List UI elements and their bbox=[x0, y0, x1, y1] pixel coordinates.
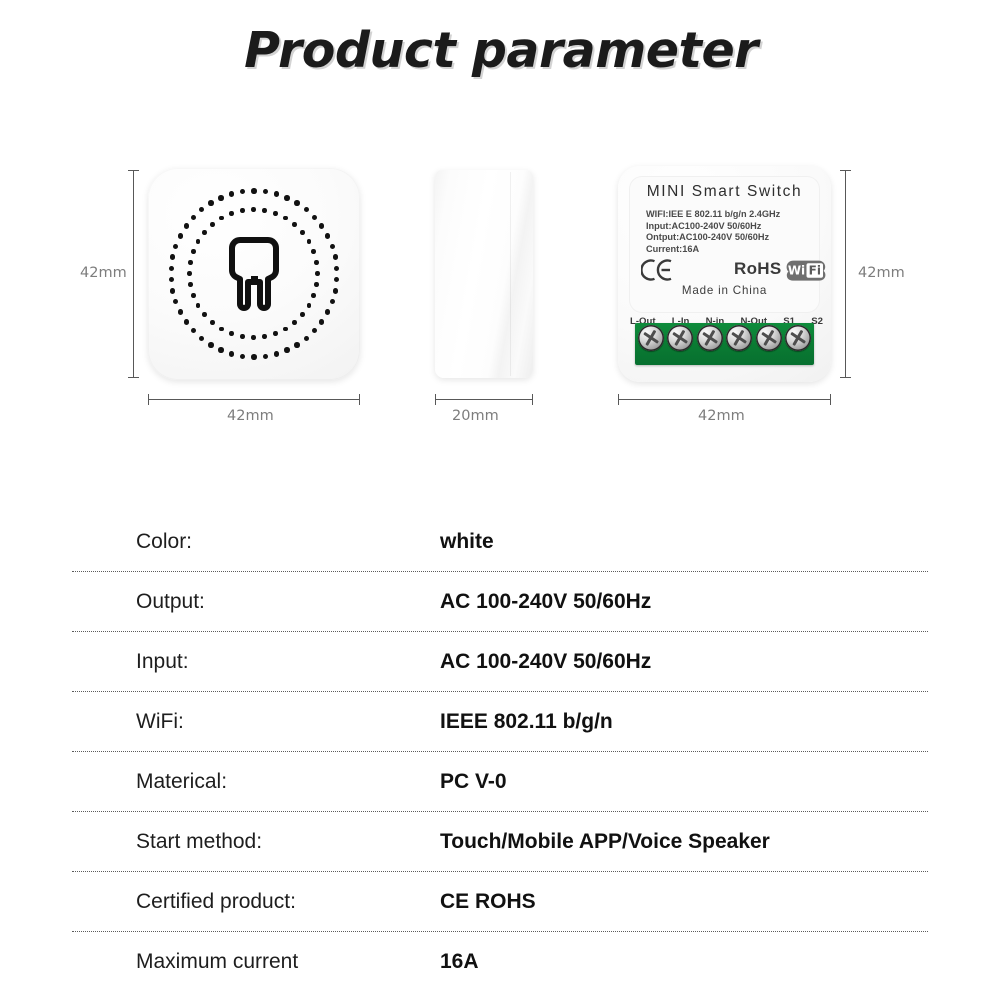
ring-dot bbox=[325, 233, 330, 238]
ring-dot bbox=[184, 319, 189, 324]
terminal-screw bbox=[638, 325, 664, 351]
spec-value: CE ROHS bbox=[440, 890, 928, 914]
spec-label: Certified product: bbox=[72, 890, 440, 914]
ring-dot bbox=[208, 200, 213, 205]
ring-dot bbox=[210, 222, 215, 227]
spec-label: Materical: bbox=[72, 770, 440, 794]
ring-dot bbox=[311, 249, 316, 254]
ring-dot bbox=[187, 271, 192, 276]
ring-dot bbox=[191, 328, 196, 333]
ring-dot bbox=[219, 216, 224, 221]
ring-dot bbox=[240, 189, 245, 194]
device-name-text: MINI Smart Switch bbox=[629, 183, 820, 201]
device-spec-line-wifi: WIFI:IEE E 802.11 b/g/n 2.4GHz bbox=[646, 209, 780, 221]
ring-dot bbox=[274, 351, 279, 356]
product-back-view: MINI Smart Switch WIFI:IEE E 802.11 b/g/… bbox=[618, 166, 831, 382]
ring-dot bbox=[304, 336, 309, 341]
front-height-dimension-text: 42mm bbox=[80, 265, 127, 281]
ring-dot bbox=[312, 215, 317, 220]
product-side-view bbox=[435, 170, 533, 378]
device-spec-line-current: Current:16A bbox=[646, 244, 780, 256]
device-spec-lines: WIFI:IEE E 802.11 b/g/n 2.4GHz Input:AC1… bbox=[646, 209, 780, 255]
ring-dot bbox=[294, 342, 299, 347]
spec-label: WiFi: bbox=[72, 710, 440, 734]
ring-dot bbox=[333, 254, 338, 259]
ring-dot bbox=[240, 208, 245, 213]
ring-dot bbox=[229, 331, 234, 336]
ring-dot bbox=[218, 195, 223, 200]
front-width-dimension-text: 42mm bbox=[227, 408, 274, 424]
ring-dot bbox=[283, 216, 288, 221]
spec-value: Touch/Mobile APP/Voice Speaker bbox=[440, 830, 928, 854]
ring-dot bbox=[196, 303, 201, 308]
product-front-view bbox=[148, 168, 360, 380]
ring-dot bbox=[218, 347, 223, 352]
ring-dot bbox=[191, 249, 196, 254]
ring-dot bbox=[240, 334, 245, 339]
spec-row: Output:AC 100-240V 50/60Hz bbox=[72, 572, 928, 632]
ring-dot bbox=[178, 309, 183, 314]
spec-value: 16A bbox=[440, 950, 928, 974]
ring-dot bbox=[210, 320, 215, 325]
front-width-dimension-line bbox=[148, 399, 360, 400]
ring-dot bbox=[300, 312, 305, 317]
ring-dot bbox=[307, 303, 312, 308]
ring-dot bbox=[273, 331, 278, 336]
wifi-logo-icon: Wi Fi bbox=[786, 259, 826, 282]
spec-row: Input:AC 100-240V 50/60Hz bbox=[72, 632, 928, 692]
ring-dot bbox=[196, 239, 201, 244]
spec-label: Maximum current bbox=[72, 950, 440, 974]
ring-dot bbox=[191, 215, 196, 220]
terminal-screw-block bbox=[635, 323, 814, 365]
ring-dot bbox=[251, 335, 256, 340]
terminal-screw bbox=[756, 325, 782, 351]
ring-dot bbox=[173, 244, 178, 249]
spec-label: Start method: bbox=[72, 830, 440, 854]
ring-dot bbox=[199, 336, 204, 341]
ring-dot bbox=[240, 354, 245, 359]
ring-dot bbox=[330, 299, 335, 304]
spec-label: Output: bbox=[72, 590, 440, 614]
ring-dot bbox=[219, 327, 224, 332]
plug-socket-icon bbox=[228, 236, 280, 312]
ring-dot bbox=[229, 191, 234, 196]
spec-label: Input: bbox=[72, 650, 440, 674]
ring-dot bbox=[330, 244, 335, 249]
spec-row: WiFi:IEEE 802.11 b/g/n bbox=[72, 692, 928, 752]
terminal-screw bbox=[697, 325, 723, 351]
spec-value: IEEE 802.11 b/g/n bbox=[440, 710, 928, 734]
back-height-dimension-line bbox=[845, 170, 846, 378]
ring-dot bbox=[170, 254, 175, 259]
ring-dot bbox=[292, 320, 297, 325]
ring-dot bbox=[273, 211, 278, 216]
terminal-screw bbox=[726, 325, 752, 351]
ring-dot bbox=[188, 282, 193, 287]
made-in-china-text: Made in China bbox=[629, 284, 820, 297]
ring-dot bbox=[314, 260, 319, 265]
spec-value: AC 100-240V 50/60Hz bbox=[440, 650, 928, 674]
certification-row: RoHS Wi Fi bbox=[629, 258, 820, 284]
ring-dot bbox=[169, 277, 174, 282]
back-height-dimension-text: 42mm bbox=[858, 265, 905, 281]
ring-dot bbox=[188, 260, 193, 265]
ring-dot bbox=[178, 233, 183, 238]
ring-dot bbox=[262, 208, 267, 213]
ring-dot bbox=[202, 230, 207, 235]
ring-dot bbox=[314, 282, 319, 287]
ring-dot bbox=[208, 342, 213, 347]
ring-dot bbox=[251, 354, 256, 359]
ring-dot bbox=[333, 288, 338, 293]
ring-dot bbox=[325, 309, 330, 314]
ring-dot bbox=[262, 334, 267, 339]
ring-dot bbox=[229, 211, 234, 216]
spec-row: Color:white bbox=[72, 512, 928, 572]
back-width-dimension-text: 42mm bbox=[698, 408, 745, 424]
wifi-logo-wi-text: Wi bbox=[788, 264, 805, 278]
spec-row: Certified product:CE ROHS bbox=[72, 872, 928, 932]
spec-value: AC 100-240V 50/60Hz bbox=[440, 590, 928, 614]
ring-dot bbox=[307, 239, 312, 244]
device-spec-line-output: Ontput:AC100-240V 50/60Hz bbox=[646, 232, 780, 244]
ring-dot bbox=[334, 266, 339, 271]
ring-dot bbox=[251, 188, 256, 193]
ring-dot bbox=[294, 200, 299, 205]
ring-dot bbox=[263, 354, 268, 359]
device-label-panel: MINI Smart Switch WIFI:IEE E 802.11 b/g/… bbox=[629, 176, 820, 313]
ring-dot bbox=[283, 327, 288, 332]
spec-row: Materical:PC V-0 bbox=[72, 752, 928, 812]
ring-dot bbox=[199, 207, 204, 212]
side-width-dimension-line bbox=[435, 399, 533, 400]
ring-dot bbox=[334, 277, 339, 282]
ce-mark-icon bbox=[641, 258, 673, 282]
device-spec-line-input: Input:AC100-240V 50/60Hz bbox=[646, 221, 780, 233]
ring-dot bbox=[312, 328, 317, 333]
ring-dot bbox=[184, 223, 189, 228]
ring-dot bbox=[274, 191, 279, 196]
spec-row: Start method:Touch/Mobile APP/Voice Spea… bbox=[72, 812, 928, 872]
ring-dot bbox=[315, 271, 320, 276]
spec-label: Color: bbox=[72, 530, 440, 554]
spec-value: PC V-0 bbox=[440, 770, 928, 794]
ring-dot bbox=[319, 223, 324, 228]
spec-row: Maximum current16A bbox=[72, 932, 928, 991]
ring-dot bbox=[263, 189, 268, 194]
ring-dot bbox=[169, 266, 174, 271]
terminal-screw bbox=[785, 325, 811, 351]
wifi-logo-fi-text: Fi bbox=[809, 264, 821, 278]
ring-dot bbox=[170, 288, 175, 293]
ring-dot bbox=[173, 299, 178, 304]
side-seam-line bbox=[510, 172, 511, 376]
ring-dot bbox=[229, 351, 234, 356]
product-gallery: 42mm 42mm 20mm MINI Smart Switch WIFI:IE… bbox=[0, 140, 1002, 440]
ring-dot bbox=[304, 207, 309, 212]
terminal-screw bbox=[667, 325, 693, 351]
ring-dot bbox=[292, 222, 297, 227]
ring-dot bbox=[319, 319, 324, 324]
front-height-dimension-line bbox=[133, 170, 134, 378]
back-width-dimension-line bbox=[618, 399, 831, 400]
ring-dot bbox=[284, 347, 289, 352]
rohs-mark-text: RoHS bbox=[734, 259, 781, 279]
spec-value: white bbox=[440, 530, 928, 554]
ring-dot bbox=[311, 293, 316, 298]
ring-dot bbox=[300, 230, 305, 235]
ring-dot bbox=[202, 312, 207, 317]
ring-dot bbox=[191, 293, 196, 298]
page-title: Product parameter bbox=[0, 22, 1002, 79]
spec-table: Color:whiteOutput:AC 100-240V 50/60HzInp… bbox=[72, 512, 928, 991]
ring-dot bbox=[284, 195, 289, 200]
ring-dot bbox=[251, 207, 256, 212]
side-width-dimension-text: 20mm bbox=[452, 408, 499, 424]
